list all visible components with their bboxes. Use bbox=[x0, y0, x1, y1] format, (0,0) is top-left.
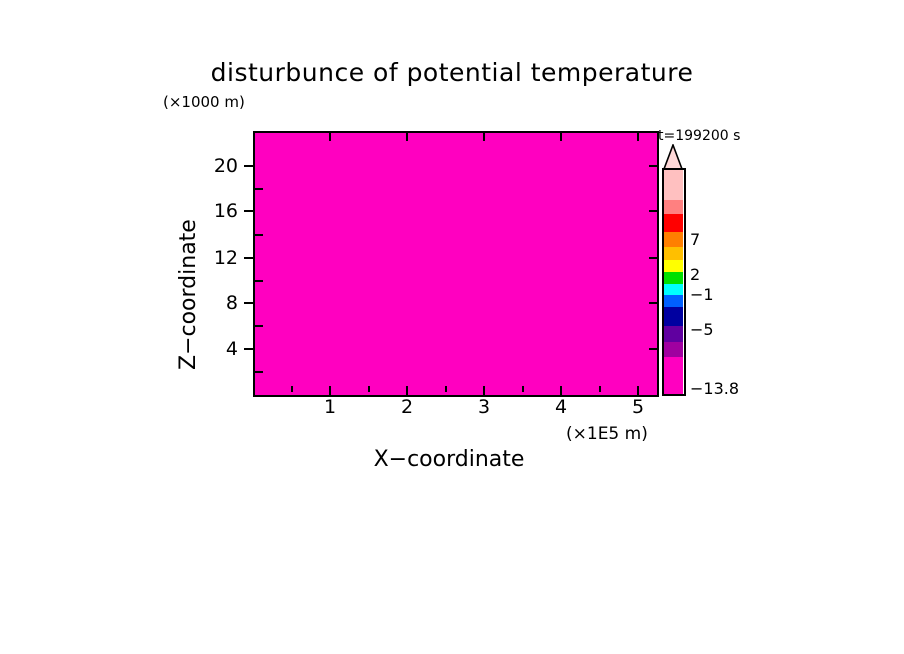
colorbar-band-12 bbox=[663, 357, 683, 394]
colorbar-band-3 bbox=[663, 232, 683, 248]
colorbar-band-7 bbox=[663, 284, 683, 296]
colorbar-label-minus13-8: −13.8 bbox=[690, 379, 739, 398]
y-tick-right-4 bbox=[649, 348, 657, 350]
y-tick-label-20: 20 bbox=[198, 155, 238, 177]
y-tick-16 bbox=[244, 210, 253, 212]
y-tick-minor-10 bbox=[255, 280, 263, 282]
x-tick-minor-35 bbox=[522, 386, 524, 392]
figure-canvas: disturbunce of potential temperature (×1… bbox=[0, 0, 904, 654]
y-tick-label-12: 12 bbox=[198, 247, 238, 269]
contour-plot-area bbox=[253, 131, 659, 397]
colorbar-band-2 bbox=[663, 214, 683, 232]
x-tick-label-5: 5 bbox=[618, 396, 658, 418]
x-axis-title-text: X−coordinate bbox=[374, 447, 525, 472]
y-tick-8 bbox=[244, 302, 253, 304]
y-tick-right-12 bbox=[649, 257, 657, 259]
x-tick-1 bbox=[329, 386, 331, 395]
y-tick-label-4: 4 bbox=[198, 338, 238, 360]
y-tick-minor-18 bbox=[255, 188, 263, 190]
colorbar-label-7: 7 bbox=[690, 230, 700, 249]
x-tick-4 bbox=[560, 386, 562, 395]
y-tick-minor-6 bbox=[255, 325, 263, 327]
y-tick-minor-2 bbox=[255, 371, 263, 373]
colorbar-label-minus5: −5 bbox=[690, 320, 714, 339]
colorbar-band-11 bbox=[663, 342, 683, 358]
time-label: t=199200 s bbox=[658, 128, 740, 144]
x-tick-5 bbox=[637, 386, 639, 395]
x-tick-label-4: 4 bbox=[541, 396, 581, 418]
colorbar-band-1 bbox=[663, 200, 683, 215]
colorbar-band-9 bbox=[663, 307, 683, 327]
x-tick-top-1 bbox=[329, 133, 331, 141]
colorbar-label-minus1: −1 bbox=[690, 285, 714, 304]
colorbar-gradient bbox=[663, 169, 683, 393]
y-tick-20 bbox=[244, 165, 253, 167]
x-tick-minor-15 bbox=[368, 386, 370, 392]
x-axis-units-label: (×1E5 m) bbox=[566, 424, 648, 444]
y-tick-label-16: 16 bbox=[198, 200, 238, 222]
colorbar-label-2: 2 bbox=[690, 265, 700, 284]
z-axis-units-label: (×1000 m) bbox=[163, 93, 245, 111]
colorbar-band-8 bbox=[663, 295, 683, 308]
y-tick-minor-14 bbox=[255, 234, 263, 236]
x-tick-top-4 bbox=[560, 133, 562, 141]
y-axis-title: Z−coordinate bbox=[176, 219, 201, 370]
x-tick-minor-45 bbox=[599, 386, 601, 392]
x-tick-label-1: 1 bbox=[310, 396, 350, 418]
temperature-field-heatmap bbox=[255, 133, 657, 395]
colorbar-band-4 bbox=[663, 247, 683, 260]
figure-title: disturbunce of potential temperature bbox=[0, 58, 904, 87]
y-tick-label-8: 8 bbox=[198, 292, 238, 314]
colorbar-band-10 bbox=[663, 326, 683, 342]
x-tick-label-2: 2 bbox=[387, 396, 427, 418]
x-tick-top-2 bbox=[406, 133, 408, 141]
x-tick-2 bbox=[406, 386, 408, 395]
x-tick-label-3: 3 bbox=[464, 396, 504, 418]
y-tick-right-20 bbox=[649, 165, 657, 167]
x-tick-3 bbox=[483, 386, 485, 395]
x-axis-title: X−coordinate bbox=[0, 447, 904, 472]
colorbar-arrow-head bbox=[663, 144, 683, 170]
x-tick-minor-05 bbox=[291, 386, 293, 392]
y-tick-12 bbox=[244, 257, 253, 259]
y-tick-4 bbox=[244, 348, 253, 350]
colorbar-band-5 bbox=[663, 260, 683, 273]
y-tick-right-16 bbox=[649, 210, 657, 212]
y-tick-right-8 bbox=[649, 302, 657, 304]
x-tick-minor-25 bbox=[445, 386, 447, 392]
colorbar-band-0 bbox=[663, 169, 683, 200]
x-tick-top-5 bbox=[637, 133, 639, 141]
x-tick-top-3 bbox=[483, 133, 485, 141]
colorbar-band-6 bbox=[663, 272, 683, 285]
